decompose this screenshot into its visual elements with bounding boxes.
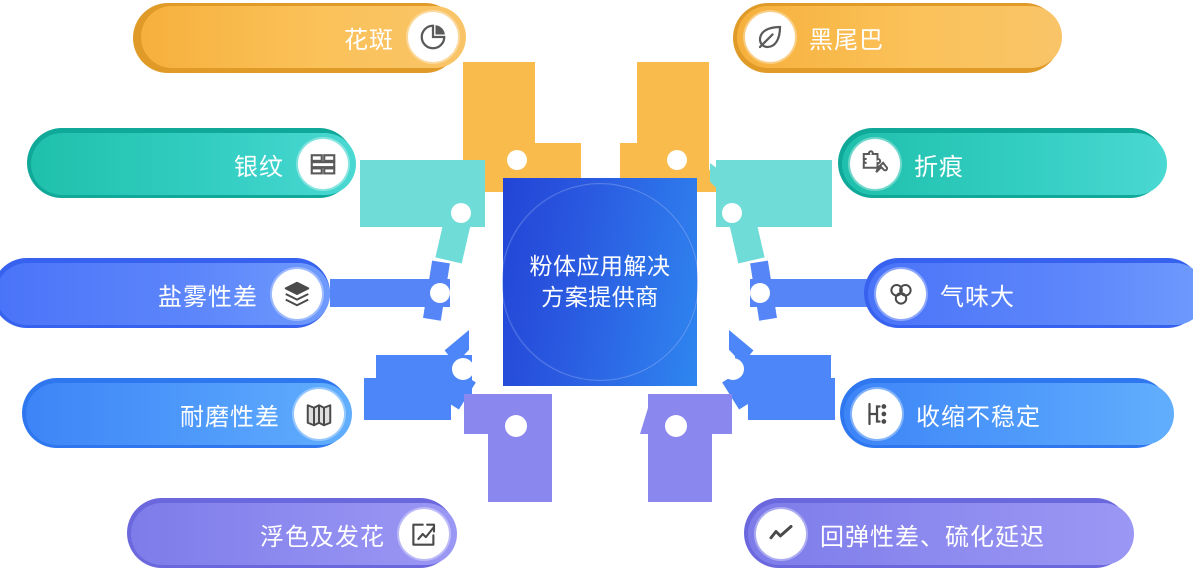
recycle-icon <box>876 269 926 319</box>
line-chart-icon <box>756 509 806 559</box>
pill-label-hua-ban: 花斑 <box>344 20 394 55</box>
pill-yan-wu-xing[interactable]: 盐雾性差 <box>0 263 330 325</box>
pill-hua-ban[interactable]: 花斑 <box>141 6 466 68</box>
puzzle-piece-icon <box>850 139 900 189</box>
pill-hei-wei-ba[interactable]: 黑尾巴 <box>737 6 1062 68</box>
connector-dot-orange-right <box>667 150 687 170</box>
open-book-icon <box>294 389 344 439</box>
pill-label-shou-suo: 收缩不稳定 <box>916 397 1041 432</box>
layers-icon <box>272 269 322 319</box>
pill-label-yin-wen: 银纹 <box>234 147 284 182</box>
connector-bluelight-right-leg <box>748 378 835 420</box>
brick-wall-icon <box>298 139 348 189</box>
pill-label-hui-tan-xing: 回弹性差、硫化延迟 <box>820 517 1045 552</box>
connector-dot-teal-left <box>451 203 471 223</box>
connector-dot-violet-left <box>505 415 527 437</box>
sitemap-icon <box>852 389 902 439</box>
pill-nai-mo-xing[interactable]: 耐磨性差 <box>26 383 352 445</box>
connector-dot-blue-left <box>430 283 450 303</box>
pill-label-qi-wei-da: 气味大 <box>940 277 1015 312</box>
leaf-icon <box>745 12 795 62</box>
pill-hui-tan-xing[interactable]: 回弹性差、硫化延迟 <box>748 503 1134 565</box>
trend-up-box-icon <box>399 509 449 559</box>
pill-zhe-hen[interactable]: 折痕 <box>842 133 1167 195</box>
connector-dot-bluelight-left <box>452 358 474 380</box>
pill-yin-wen[interactable]: 银纹 <box>31 133 356 195</box>
center-node: 粉体应用解决 方案提供商 <box>503 178 697 386</box>
connector-bluelight-left-leg <box>364 378 451 420</box>
connector-dot-teal-right <box>722 203 742 223</box>
pill-label-nai-mo-xing: 耐磨性差 <box>180 397 280 432</box>
infographic-canvas: 粉体应用解决 方案提供商 花斑 黑尾巴 银纹 <box>0 0 1193 577</box>
connector-dot-blue-right <box>750 283 770 303</box>
center-label: 粉体应用解决 方案提供商 <box>530 251 671 313</box>
connector-dot-violet-right <box>665 415 687 437</box>
pill-qi-wei-da[interactable]: 气味大 <box>868 263 1193 325</box>
connector-dot-bluelight-right <box>722 358 744 380</box>
pill-label-hei-wei-ba: 黑尾巴 <box>809 20 884 55</box>
pie-chart-icon <box>408 12 458 62</box>
pill-shou-suo[interactable]: 收缩不稳定 <box>844 383 1174 445</box>
pill-label-zhe-hen: 折痕 <box>914 147 964 182</box>
pill-label-fu-se-fa-hua: 浮色及发花 <box>260 517 385 552</box>
pill-fu-se-fa-hua[interactable]: 浮色及发花 <box>131 503 457 565</box>
pill-label-yan-wu-xing: 盐雾性差 <box>158 277 258 312</box>
connector-dot-orange-left <box>507 150 527 170</box>
